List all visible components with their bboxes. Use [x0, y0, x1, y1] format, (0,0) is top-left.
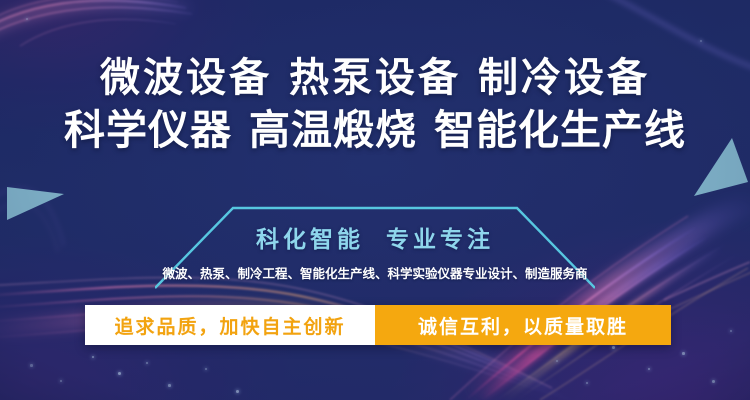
slogan-bars: 追求品质，加快自主创新 诚信互利，以质量取胜	[85, 305, 671, 345]
headline-item-refrigeration: 制冷设备	[478, 56, 650, 100]
headline-item-calcination: 高温煅烧	[249, 107, 417, 153]
headline-line-2: 科学仪器高温煅烧智能化生产线	[0, 110, 750, 152]
subtitle-block: 科化智能专业专注 微波、热泵、制冷工程、智能化生产线、科学实验仪器专业设计、制造…	[155, 206, 595, 290]
headline-item-instruments: 科学仪器	[64, 107, 232, 153]
headline-item-heatpump: 热泵设备	[289, 56, 461, 100]
subtitle-cyan: 科化智能专业专注	[155, 220, 595, 254]
headline-line-1: 微波设备热泵设备制冷设备	[0, 58, 750, 99]
subtitle-cyan-a: 科化智能	[256, 226, 364, 252]
headline: 微波设备热泵设备制冷设备 科学仪器高温煅烧智能化生产线	[0, 58, 750, 152]
subtitle-cyan-b: 专业专注	[386, 226, 494, 252]
headline-item-production-line: 智能化生产线	[434, 107, 686, 153]
slogan-right[interactable]: 诚信互利，以质量取胜	[375, 305, 671, 345]
headline-item-microwave: 微波设备	[100, 56, 272, 100]
slogan-left[interactable]: 追求品质，加快自主创新	[85, 305, 375, 345]
subtitle-description: 微波、热泵、制冷工程、智能化生产线、科学实验仪器专业设计、制造服务商	[150, 263, 600, 282]
promo-banner: 微波设备热泵设备制冷设备 科学仪器高温煅烧智能化生产线 科化智能专业专注 微波、…	[0, 0, 750, 400]
left-arrow-triangle	[6, 182, 66, 222]
